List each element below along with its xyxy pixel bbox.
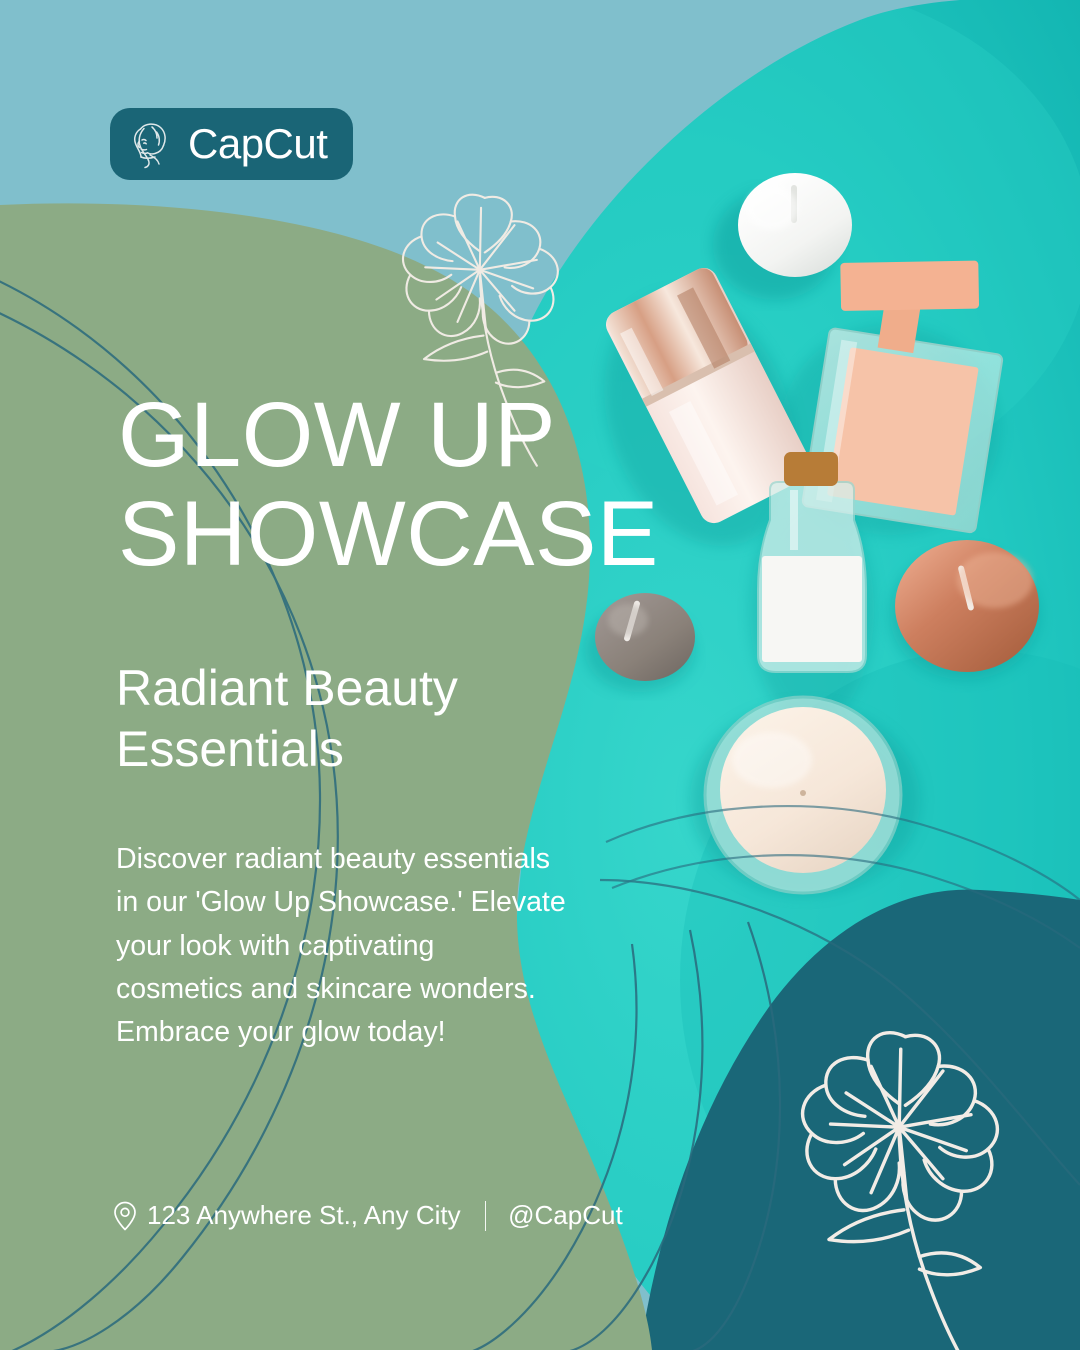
footer-address: 123 Anywhere St., Any City: [147, 1200, 461, 1231]
page-subtitle: Radiant Beauty Essentials: [116, 658, 586, 780]
capcut-logo-text: CapCut: [188, 123, 327, 165]
footer-handle: @CapCut: [508, 1200, 623, 1231]
face-line-art-icon: [128, 119, 174, 169]
footer-divider: [485, 1201, 487, 1231]
page-title: GLOW UP SHOWCASE: [118, 386, 778, 585]
body-copy: Discover radiant beauty essentials in ou…: [116, 838, 616, 1055]
capcut-logo-badge[interactable]: CapCut: [110, 108, 353, 180]
poster-canvas: CapCut GLOW UP SHOWCASE Radiant Beauty E…: [0, 0, 1080, 1350]
location-pin-icon: [112, 1201, 138, 1231]
footer-contact: 123 Anywhere St., Any City @CapCut: [112, 1200, 623, 1231]
